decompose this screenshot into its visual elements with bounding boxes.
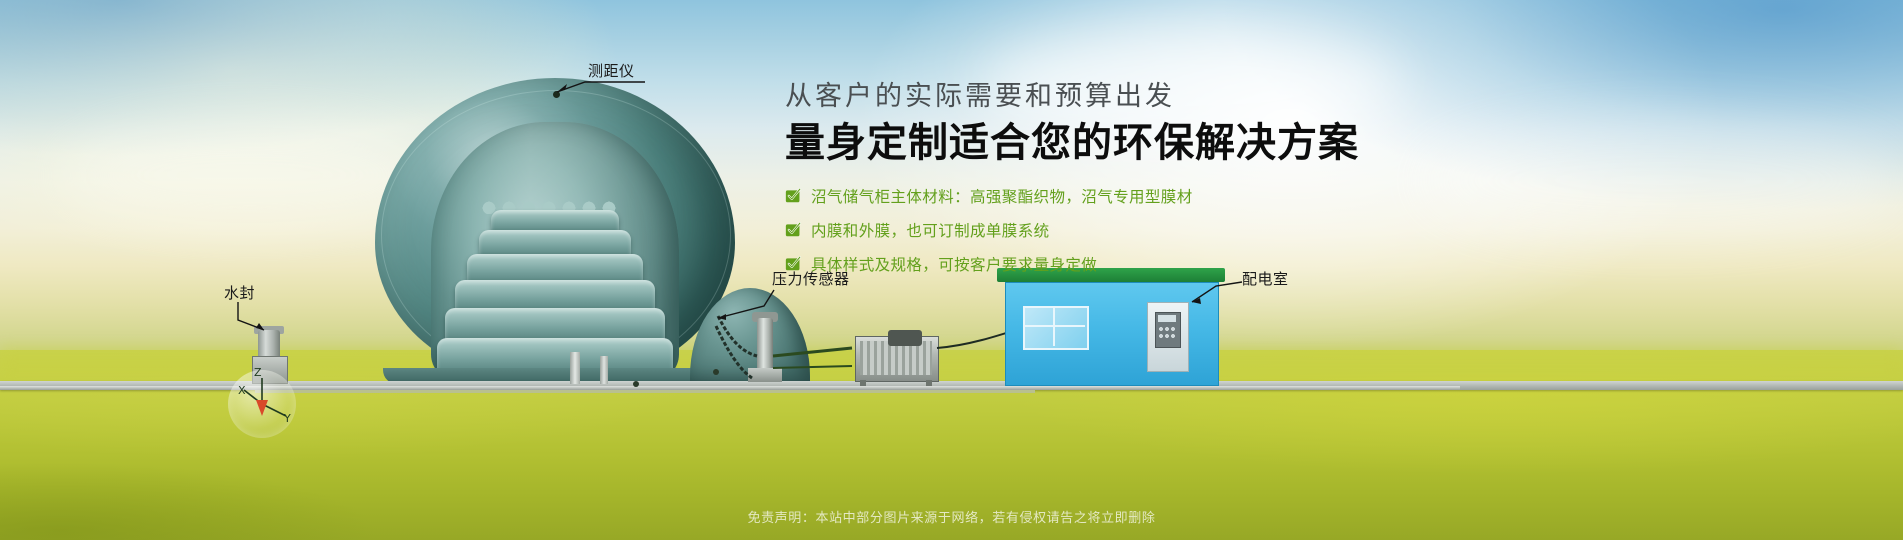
dome-fold <box>455 280 655 310</box>
pressure-sensor-leader <box>710 286 830 332</box>
feature-text: 具体样式及规格，可按客户要求量身定做 <box>811 253 1097 275</box>
promo-headline: 量身定制适合您的环保解决方案 <box>785 120 1425 167</box>
feature-text: 沼气储气柜主体材料：高强聚酯织物，沼气专用型膜材 <box>811 185 1193 207</box>
control-panel-display <box>1158 315 1176 322</box>
feature-list: 沼气储气柜主体材料：高强聚酯织物，沼气专用型膜材 内膜和外膜，也可订制成单膜系统… <box>785 185 1425 275</box>
check-circle-icon <box>785 255 802 272</box>
promo-subheading: 从客户的实际需要和预算出发 <box>785 80 1425 114</box>
house-window <box>1023 306 1089 350</box>
dome-fold <box>445 308 665 340</box>
control-panel-buttons <box>1158 326 1176 342</box>
dome-fold <box>479 230 631 256</box>
gizmo-label-x: X <box>238 384 246 397</box>
feature-item: 具体样式及规格，可按客户要求量身定做 <box>785 253 1425 275</box>
vent-stack-2 <box>600 356 608 384</box>
cloud-2 <box>1420 120 1900 240</box>
gizmo-axes <box>228 370 296 438</box>
feature-item: 沼气储气柜主体材料：高强聚酯织物，沼气专用型膜材 <box>785 185 1425 207</box>
pressure-sensor-base <box>748 368 782 382</box>
gizmo-label-y: Y <box>284 412 291 425</box>
gizmo-label-z: Z <box>254 366 262 379</box>
vent-stack-1 <box>570 352 580 384</box>
biogas-dome <box>375 78 735 383</box>
label-rangefinder: 测距仪 <box>588 60 635 81</box>
compressor-leg <box>926 380 932 386</box>
hero-banner: 测距仪 水封 压力传感器 配电室 Z X Y 从客户的实际需要和预算出发 量身定… <box>0 0 1903 540</box>
axis-gizmo: Z X Y <box>228 370 296 438</box>
check-circle-icon <box>785 187 802 204</box>
buried-pipe <box>255 390 1035 393</box>
check-circle-icon <box>785 221 802 238</box>
promo-copy-block: 从客户的实际需要和预算出发 量身定制适合您的环保解决方案 沼气储气柜主体材料：高… <box>785 80 1425 287</box>
feature-item: 内膜和外膜，也可订制成单膜系统 <box>785 219 1425 241</box>
window-mullion-horizontal <box>1023 325 1085 327</box>
compressor-motor <box>888 330 922 346</box>
dome-fold <box>437 338 673 372</box>
disclaimer-text: 免责声明：本站中部分图片来源于网络，若有侵权请告之将立即删除 <box>0 507 1903 526</box>
label-water-seal: 水封 <box>224 282 255 303</box>
compressor-leg <box>860 380 866 386</box>
feature-text: 内膜和外膜，也可订制成单膜系统 <box>811 219 1050 241</box>
dome-fold <box>467 254 643 282</box>
dome-fold <box>491 210 619 232</box>
compressor-grille <box>860 341 932 375</box>
